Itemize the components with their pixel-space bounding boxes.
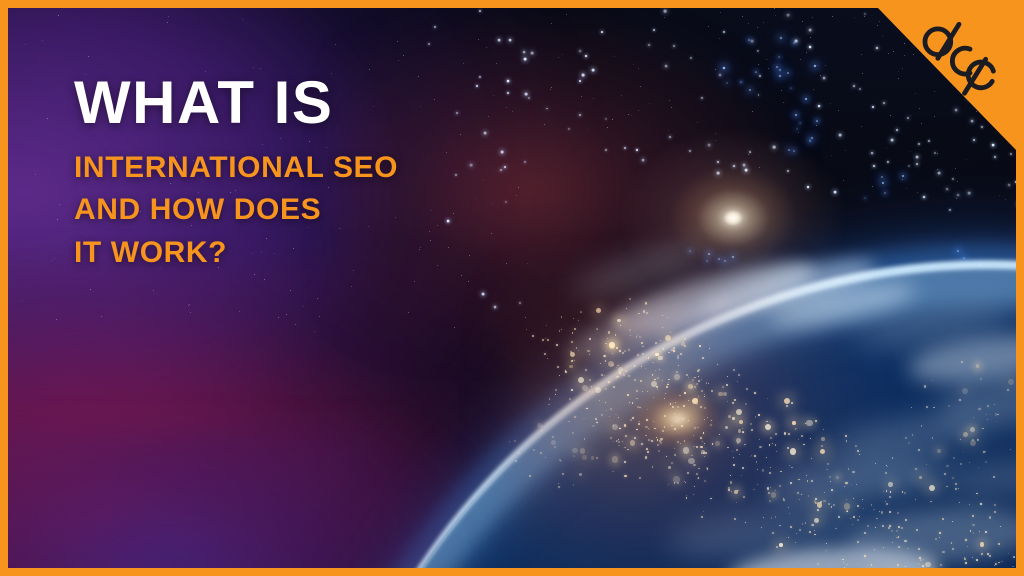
headline-line-3: AND HOW DOES xyxy=(74,189,534,232)
dcp-logo[interactable] xyxy=(912,16,1006,108)
headline-secondary: INTERNATIONAL SEO AND HOW DOES IT WORK? xyxy=(74,147,534,275)
headline-line-2: INTERNATIONAL SEO xyxy=(74,147,534,190)
headline-block: WHAT IS INTERNATIONAL SEO AND HOW DOES I… xyxy=(74,74,534,275)
banner-stage: WHAT IS INTERNATIONAL SEO AND HOW DOES I… xyxy=(8,8,1016,568)
seo-banner: WHAT IS INTERNATIONAL SEO AND HOW DOES I… xyxy=(0,0,1024,576)
headline-line-4: IT WORK? xyxy=(74,232,534,275)
headline-primary: WHAT IS xyxy=(74,74,534,133)
